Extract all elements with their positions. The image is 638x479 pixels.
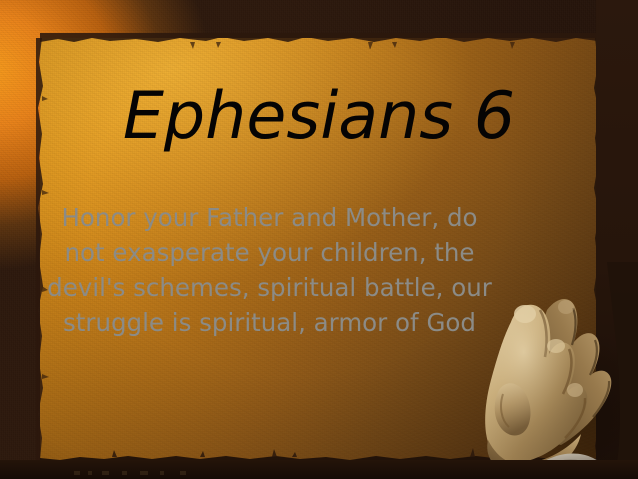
bottom-artifact <box>160 471 164 475</box>
presentation-slide: Ephesians 6 Honor your Father and Mother… <box>0 0 638 479</box>
bottom-artifact <box>140 471 148 475</box>
body-line: not exasperate your children, the <box>18 235 521 270</box>
body-line: devil's schemes, spiritual battle, our <box>18 270 521 305</box>
slide-title: Ephesians 6 <box>0 84 638 149</box>
body-line: Honor your Father and Mother, do <box>18 200 521 235</box>
bottom-artifact <box>122 471 127 475</box>
praying-hands-icon <box>455 262 638 479</box>
bottom-artifact <box>88 471 92 475</box>
bottom-artifact <box>102 471 109 475</box>
bottom-artifact <box>180 471 186 475</box>
praying-hands-image <box>455 262 638 479</box>
body-line: struggle is spiritual, armor of God <box>18 305 521 340</box>
slide-bottom-band <box>0 460 638 479</box>
bottom-artifact <box>74 471 80 475</box>
hands-backdrop <box>607 262 638 479</box>
fingertip-highlight <box>558 300 574 314</box>
slide-body-text: Honor your Father and Mother, do not exa… <box>18 200 521 340</box>
